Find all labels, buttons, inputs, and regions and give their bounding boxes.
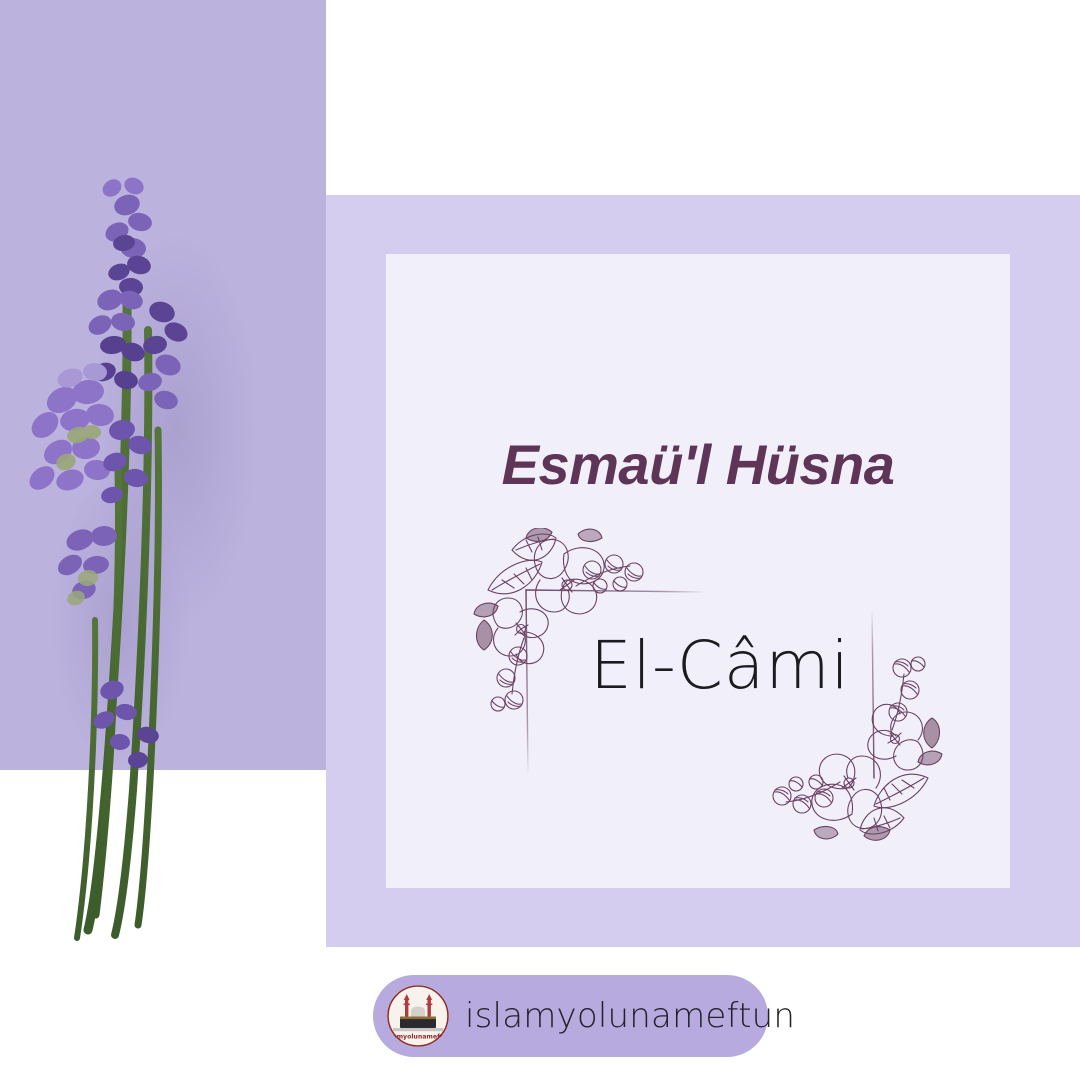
divine-name: El-Câmi	[540, 627, 900, 704]
svg-text:islamyolunameftun: islamyolunameftun	[387, 1034, 449, 1041]
mosque-logo-icon: islamyolunameftun	[387, 985, 449, 1047]
poster-canvas: Esmaü'l Hüsna	[0, 0, 1080, 1080]
account-handle: islamyolunameftun	[465, 996, 795, 1036]
lavender-background-block	[0, 0, 326, 770]
page-title: Esmaü'l Hüsna	[386, 432, 1010, 497]
inner-card	[386, 254, 1010, 888]
account-badge[interactable]: islamyolunameftun islamyolunameftun	[373, 975, 768, 1057]
